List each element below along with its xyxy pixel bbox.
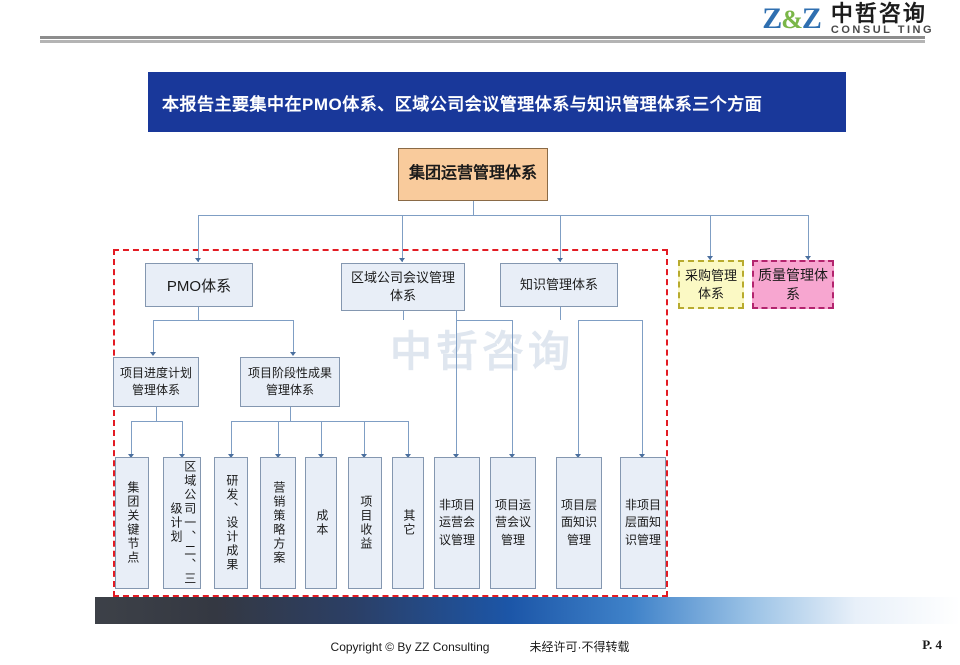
node-label: PMO体系 [167,275,231,296]
logo-name-cn: 中哲咨询 [831,2,934,25]
node-label: 成本 [314,509,328,537]
node-leaf-regional-company-plans[interactable]: 区域公司一、二、三级计划 [163,457,201,589]
header-divider-rule [40,36,925,43]
node-quality-management-system[interactable]: 质量管理体系 [752,260,834,309]
connector-drop-region-meeting [402,215,403,262]
connector-stage-bus [231,421,408,422]
logo-wordmark: 中哲咨询 CONSUL TING [831,2,934,37]
arrow-drop-stage-result-icon [290,352,296,356]
connector-stage-stem [290,407,291,421]
node-label: 其它 [401,509,415,537]
connector-drop-leaf-6 [364,421,365,457]
node-leaf-non-project-level-knowledge[interactable]: 非项目层面知识管理 [620,457,666,589]
connector-level2-bus [198,215,808,216]
connector-drop-quality [808,215,809,260]
footer: Copyright © By ZZ Consulting 未经许可·不得转载 [0,638,960,655]
connector-region-meeting-stem [403,311,404,320]
node-label: 非项目层面知识管理 [623,497,663,549]
connector-pmo-stem [198,307,199,320]
logo-name-en: CONSUL TING [831,25,934,37]
node-regional-company-meeting-system[interactable]: 区域公司会议管理体系 [341,263,465,311]
title-banner: 本报告主要集中在PMO体系、区域公司会议管理体系与知识管理体系三个方面 [148,72,846,132]
arrow-drop-pmo-icon [195,258,201,262]
logo-letter-z-left: Z [762,2,781,35]
logo-mark-zz: Z&Z [762,4,821,34]
node-label: 项目收益 [358,495,372,551]
connector-region-meeting-join [456,311,457,320]
arrow-drop-schedule-plan-icon [150,352,156,356]
connector-drop-leaf-9 [512,320,513,457]
node-label: 区域公司会议管理体系 [346,269,460,304]
node-root-group-operation-system[interactable]: 集团运营管理体系 [398,148,548,201]
footer-copyright: Copyright © By ZZ Consulting [331,640,490,654]
connector-schedule-bus [131,421,182,422]
node-project-stage-result-system[interactable]: 项目阶段性成果管理体系 [240,357,340,407]
connector-knowledge-bus [578,320,642,321]
node-leaf-marketing-strategy-plan[interactable]: 营销策略方案 [260,457,296,589]
connector-drop-leaf-11 [642,320,643,457]
connector-knowledge-stem [560,307,561,320]
node-label: 项目阶段性成果管理体系 [244,365,336,399]
node-label: 集团关键节点 [125,481,139,565]
connector-drop-stage-result [293,320,294,355]
slide-canvas: Z&Z 中哲咨询 CONSUL TING 本报告主要集中在PMO体系、区域公司会… [0,0,960,665]
node-label: 项目运营会议管理 [493,497,533,549]
node-label: 知识管理体系 [520,276,598,294]
node-leaf-cost[interactable]: 成本 [305,457,337,589]
logo-letter-z-right: Z [802,2,821,35]
node-label: 采购管理体系 [683,267,739,302]
node-purchase-management-system[interactable]: 采购管理体系 [678,260,744,309]
connector-drop-purchase [710,215,711,260]
node-label: 集团运营管理体系 [409,164,537,185]
footer-gradient-bar [95,597,960,624]
node-knowledge-management-system[interactable]: 知识管理体系 [500,263,618,307]
connector-region-meeting-bus [456,320,512,321]
connector-drop-leaf-8 [456,320,457,457]
connector-drop-leaf-7 [408,421,409,457]
node-label: 研发、设计成果 [224,474,238,572]
node-label: 项目层面知识管理 [559,497,599,549]
connector-drop-leaf-10 [578,320,579,457]
page-number: P. 4 [922,637,942,653]
connector-drop-schedule-plan [153,320,154,355]
connector-root-stem [473,201,474,215]
footer-notice: 未经许可·不得转载 [529,638,629,655]
node-project-schedule-plan-system[interactable]: 项目进度计划管理体系 [113,357,199,407]
connector-pmo-bus [153,320,293,321]
node-leaf-non-project-operation-meeting[interactable]: 非项目运营会议管理 [434,457,480,589]
node-leaf-project-revenue[interactable]: 项目收益 [348,457,382,589]
connector-schedule-stem [156,407,157,421]
arrow-drop-region-meeting-icon [399,258,405,262]
connector-drop-leaf-2 [182,421,183,457]
node-label: 非项目运营会议管理 [437,497,477,549]
node-label: 质量管理体系 [757,266,829,302]
node-label: 项目进度计划管理体系 [117,365,195,399]
slide-title: 本报告主要集中在PMO体系、区域公司会议管理体系与知识管理体系三个方面 [148,90,762,115]
node-leaf-group-key-milestone[interactable]: 集团关键节点 [115,457,149,589]
connector-drop-leaf-1 [131,421,132,457]
connector-drop-leaf-4 [278,421,279,457]
connector-drop-leaf-3 [231,421,232,457]
node-leaf-project-level-knowledge[interactable]: 项目层面知识管理 [556,457,602,589]
brand-logo: Z&Z 中哲咨询 CONSUL TING [762,2,934,37]
connector-drop-pmo [198,215,199,262]
logo-ampersand-icon: & [781,5,802,34]
node-leaf-other[interactable]: 其它 [392,457,424,589]
connector-drop-knowledge [560,215,561,262]
node-leaf-rd-design-result[interactable]: 研发、设计成果 [214,457,248,589]
node-pmo-system[interactable]: PMO体系 [145,263,253,307]
node-label: 区域公司一、二、三级计划 [168,458,196,588]
connector-drop-leaf-5 [321,421,322,457]
node-leaf-project-operation-meeting[interactable]: 项目运营会议管理 [490,457,536,589]
node-label: 营销策略方案 [271,481,285,565]
arrow-drop-knowledge-icon [557,258,563,262]
